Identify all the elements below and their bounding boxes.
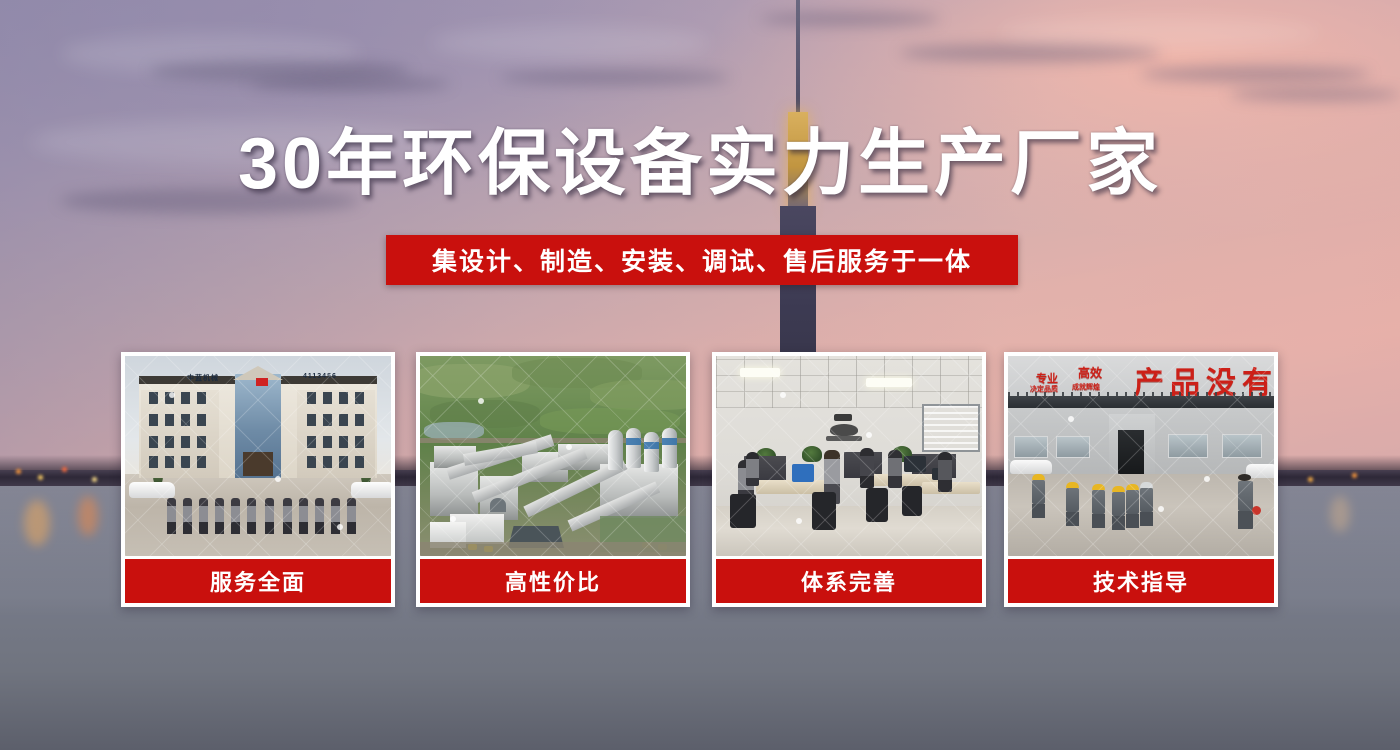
card-caption-text: 高性价比 <box>505 565 601 597</box>
card-photo-plant-aerial <box>420 356 686 556</box>
card-photo-worker-training: 产品没有 专业 高效 决定品质 成就辉煌 <box>1008 356 1274 556</box>
card-caption: 服务全面 <box>125 559 391 603</box>
supervisor-figure <box>1238 474 1253 529</box>
building-phone: 4113456 <box>303 373 337 380</box>
card-photo-company-building: 中蓝机械 4113456 <box>125 356 391 556</box>
hero-subtitle-text: 集设计、制造、安装、调试、售后服务于一体 <box>432 242 972 278</box>
hero-subtitle-banner: 集设计、制造、安装、调试、售后服务于一体 <box>386 235 1018 285</box>
card-caption-text: 技术指导 <box>1093 565 1189 597</box>
hero-banner: 30年环保设备实力生产厂家 集设计、制造、安装、调试、售后服务于一体 中蓝机械 … <box>0 0 1400 750</box>
card-caption-text: 体系完善 <box>801 565 897 597</box>
card-photo-office-interior <box>716 356 982 556</box>
building-signage: 中蓝机械 <box>187 373 219 383</box>
card-caption: 体系完善 <box>716 559 982 603</box>
card-caption: 高性价比 <box>420 559 686 603</box>
card-caption-text: 服务全面 <box>210 565 306 597</box>
feature-card[interactable]: 高性价比 <box>416 352 690 607</box>
feature-card-list: 中蓝机械 4113456 <box>0 352 1400 607</box>
feature-card[interactable]: 体系完善 <box>712 352 986 607</box>
wall-decal <box>824 414 864 444</box>
card-caption: 技术指导 <box>1008 559 1274 603</box>
feature-card[interactable]: 中蓝机械 4113456 <box>121 352 395 607</box>
factory-wall-word-2: 高效 <box>1078 364 1102 381</box>
hero-headline: 30年环保设备实力生产厂家 <box>0 128 1400 200</box>
factory-wall-sub-2: 成就辉煌 <box>1072 382 1100 392</box>
feature-card[interactable]: 产品没有 专业 高效 决定品质 成就辉煌 <box>1004 352 1278 607</box>
